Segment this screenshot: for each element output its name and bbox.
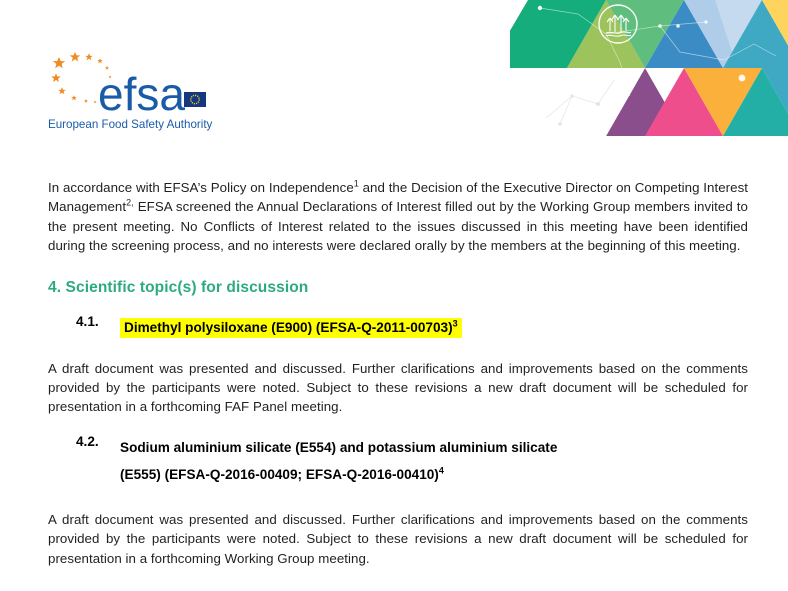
logo-tagline: European Food Safety Authority [48,118,213,131]
subsection-4-2-title: Sodium aluminium silicate (E554) and pot… [120,434,748,488]
efsa-logo: efsa European Food Safety Authority [48,52,233,134]
mosaic-graphic [510,0,788,136]
subsection-4-1-body: A draft document was presented and discu… [48,359,748,417]
subsection-4-2-body: A draft document was presented and discu… [48,510,748,568]
footnote-marker-2: 2, [126,198,134,208]
logo-wordmark: efsa [98,68,185,120]
subsection-4-1: 4.1. Dimethyl polysiloxane (E900) (EFSA-… [48,314,748,341]
section-heading-4: 4. Scientific topic(s) for discussion [48,279,748,297]
page-header: efsa European Food Safety Authority [0,0,788,160]
eu-flag-icon [184,92,206,107]
subsection-4-2-number: 4.2. [48,434,120,449]
subsection-4-2-title-line-1: Sodium aluminium silicate (E554) and pot… [120,438,557,458]
subsection-4-2-title-line-2: (E555) (EFSA-Q-2016-00409; EFSA-Q-2016-0… [120,465,439,485]
document-body: In accordance with EFSA’s Policy on Inde… [48,178,748,568]
subsection-4-1-title-text: Dimethyl polysiloxane (E900) (EFSA-Q-201… [124,320,453,335]
footnote-marker-4: 4 [439,465,444,475]
subsection-4-1-title: Dimethyl polysiloxane (E900) (EFSA-Q-201… [120,314,748,341]
intro-paragraph: In accordance with EFSA’s Policy on Inde… [48,178,748,256]
intro-text-3: EFSA screened the Annual Declarations of… [48,199,748,253]
intro-text-1: In accordance with EFSA’s Policy on Inde… [48,180,354,195]
footnote-marker-3: 3 [453,318,458,328]
subsection-4-2: 4.2. Sodium aluminium silicate (E554) an… [48,434,748,488]
subsection-4-1-number: 4.1. [48,314,120,329]
